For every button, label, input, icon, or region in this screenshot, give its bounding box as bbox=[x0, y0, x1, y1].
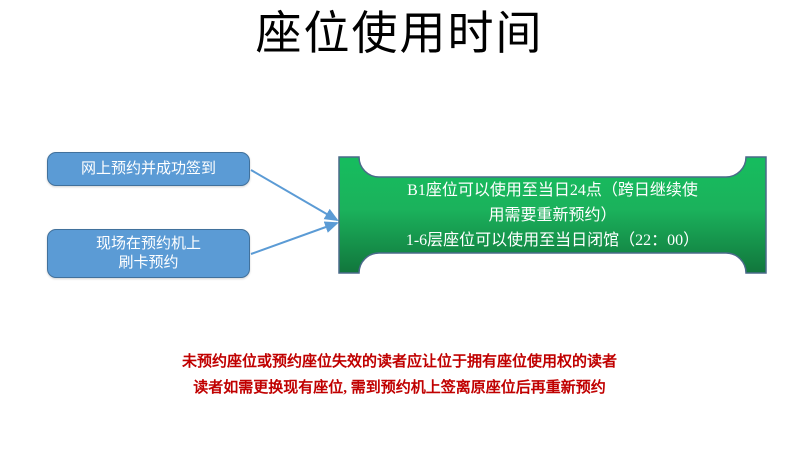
note-line-1: 未预约座位或预约座位失效的读者应让位于拥有座位使用权的读者 bbox=[0, 349, 799, 375]
source-box-1-label: 网上预约并成功签到 bbox=[81, 160, 216, 179]
source-box-online-reservation[interactable]: 网上预约并成功签到 bbox=[47, 152, 250, 186]
result-line-3: 1-6层座位可以使用至当日闭馆（22：00） bbox=[406, 228, 699, 253]
result-box-seat-usage-time[interactable]: B1座位可以使用至当日24点（跨日继续使 用需要重新预约） 1-6层座位可以使用… bbox=[339, 157, 766, 273]
note-line-2: 读者如需更换现有座位, 需到预约机上签离原座位后再重新预约 bbox=[0, 375, 799, 401]
result-box-text: B1座位可以使用至当日24点（跨日继续使 用需要重新预约） 1-6层座位可以使用… bbox=[339, 157, 766, 273]
slide-canvas: 座位使用时间 网上预约并成功签到 现场在预约机上 刷卡预约 bbox=[0, 0, 799, 450]
page-title: 座位使用时间 bbox=[0, 6, 799, 62]
source-box-onsite-reservation[interactable]: 现场在预约机上 刷卡预约 bbox=[47, 229, 250, 278]
arrow-from-box1 bbox=[251, 170, 337, 220]
source-box-2-label-line1: 现场在预约机上 bbox=[96, 235, 201, 254]
source-box-2-label-line2: 刷卡预约 bbox=[96, 254, 201, 273]
note-text: 未预约座位或预约座位失效的读者应让位于拥有座位使用权的读者 读者如需更换现有座位… bbox=[0, 349, 799, 401]
result-line-1: B1座位可以使用至当日24点（跨日继续使 bbox=[406, 178, 699, 203]
result-line-2: 用需要重新预约） bbox=[406, 203, 699, 228]
arrow-from-box2 bbox=[251, 223, 337, 254]
